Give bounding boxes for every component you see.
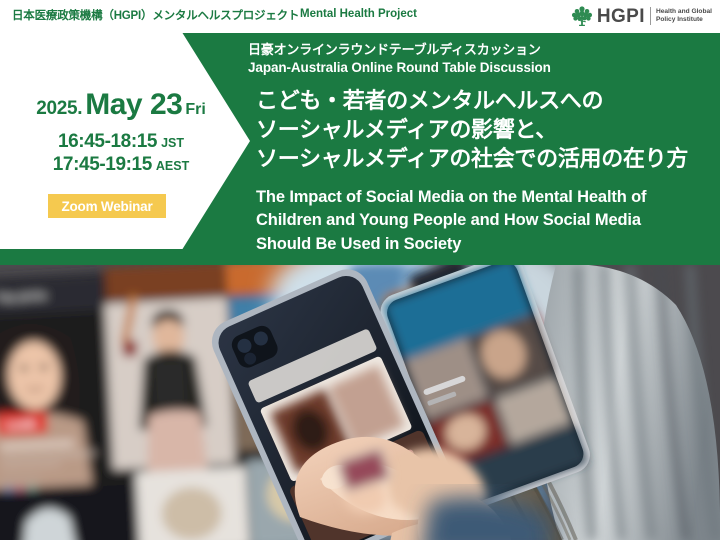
event-time-jst: 16:45-18:15JST [16,131,226,153]
page-header: 日本医療政策機構（HGPI）メンタルヘルスプロジェクト Mental Healt… [0,0,720,33]
kicker-japanese: 日豪オンラインラウンドテーブルディスカッション [248,42,716,58]
logo-institute-name: Health and Global Policy Institute [656,8,712,24]
time-range-aest: 17:45-19:15 [53,154,152,175]
title-jp-line-3: ソーシャルメディアの社会での活用の在り方 [256,144,716,173]
event-date: 2025.May 23Fri [16,88,226,122]
timezone-jst: JST [161,136,184,150]
title-japanese: こども・若者のメンタルヘルスへの ソーシャルメディアの影響と、 ソーシャルメディ… [256,86,716,173]
hero-photo-social-media: Top picks [0,265,720,540]
event-month-day: May 23 [85,88,182,121]
event-headline-block: 日豪オンラインラウンドテーブルディスカッション Japan-Australia … [248,42,716,256]
event-time-aest: 17:45-19:15AEST [16,154,226,176]
event-year: 2025. [36,98,82,119]
logo-divider [650,7,651,25]
title-en-line-2: Children and Young People and How Social… [256,209,716,232]
timezone-aest: AEST [156,159,189,173]
logo-name-line1: Health and Global [656,8,712,15]
tree-logo-icon [570,4,594,28]
header-title-japanese: 日本医療政策機構（HGPI）メンタルヘルスプロジェクト [12,7,299,23]
event-weekday: Fri [185,101,205,118]
title-jp-line-1: こども・若者のメンタルヘルスへの [256,86,716,115]
title-jp-line-2: ソーシャルメディアの影響と、 [256,115,716,144]
title-english: The Impact of Social Media on the Mental… [256,186,716,256]
logo-name-line2: Policy Institute [656,16,703,23]
kicker-english: Japan-Australia Online Round Table Discu… [248,59,716,77]
header-title-english: Mental Health Project [300,8,417,20]
time-range-jst: 16:45-18:15 [58,131,157,152]
hgpi-logo: HGPI Health and Global Policy Institute [570,3,712,29]
svg-text:Look: Look [6,417,36,432]
logo-acronym: HGPI [597,7,645,26]
title-en-line-1: The Impact of Social Media on the Mental… [256,186,716,209]
zoom-webinar-badge[interactable]: Zoom Webinar [48,194,166,218]
title-en-line-3: Should Be Used in Society [256,233,716,256]
event-poster: 日本医療政策機構（HGPI）メンタルヘルスプロジェクト Mental Healt… [0,0,720,540]
